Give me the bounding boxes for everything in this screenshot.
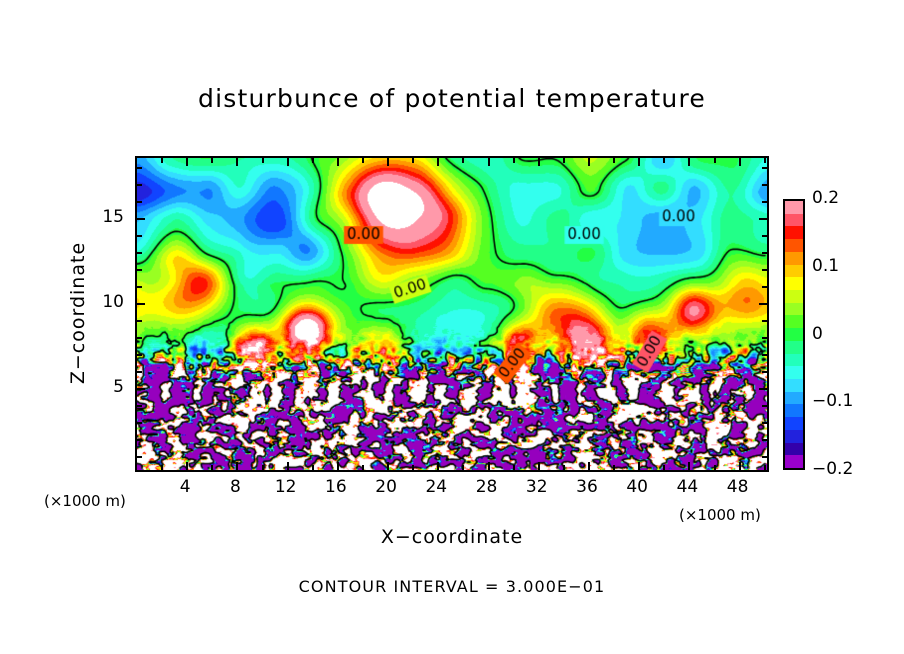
y-axis-minor-tick: [137, 286, 142, 288]
y-axis-tick: [759, 218, 767, 220]
y-axis-minor-tick: [137, 320, 142, 322]
y-axis-minor-tick: [762, 439, 767, 441]
y-axis-minor-tick: [137, 354, 142, 356]
y-axis-minor-tick: [137, 269, 142, 271]
y-axis-minor-tick: [137, 201, 142, 203]
y-axis-minor-tick: [137, 371, 142, 373]
x-axis-tick: [739, 462, 741, 470]
x-axis-minor-tick: [161, 465, 163, 470]
x-axis-minor-tick: [262, 158, 264, 163]
colorbar-swatch: [785, 354, 803, 367]
x-axis-tick: [337, 462, 339, 470]
x-tick-label: 40: [617, 477, 657, 497]
x-axis-minor-tick: [714, 465, 716, 470]
x-axis-minor-tick: [513, 158, 515, 163]
x-axis-tick: [688, 462, 690, 470]
colorbar-swatches: [785, 201, 803, 468]
y-axis-minor-tick: [762, 371, 767, 373]
y-axis-tick: [137, 388, 145, 390]
y-axis-tick: [759, 388, 767, 390]
colorbar-swatch: [785, 443, 803, 456]
y-axis-minor-tick: [762, 337, 767, 339]
colorbar-swatch: [785, 226, 803, 239]
x-axis-tick: [437, 158, 439, 166]
x-axis-tick: [337, 158, 339, 166]
x-axis-minor-tick: [362, 158, 364, 163]
x-tick-label: 12: [266, 477, 306, 497]
y-axis-minor-tick: [137, 184, 142, 186]
y-axis-minor-tick: [762, 354, 767, 356]
x-axis-minor-tick: [312, 465, 314, 470]
contour-plot-frame: [135, 156, 769, 472]
colorbar: [783, 199, 805, 470]
x-axis-minor-tick: [764, 158, 766, 163]
y-axis-minor-tick: [762, 201, 767, 203]
colorbar-swatch: [785, 404, 803, 417]
colorbar-swatch: [785, 290, 803, 303]
y-tick-label: 10: [90, 292, 124, 312]
x-tick-label: 4: [165, 477, 205, 497]
x-tick-label: 32: [517, 477, 557, 497]
colorbar-swatch: [785, 315, 803, 328]
x-axis-tick: [638, 158, 640, 166]
x-axis-tick: [538, 462, 540, 470]
y-axis-minor-tick: [137, 235, 142, 237]
x-axis-tick: [236, 158, 238, 166]
colorbar-tick-label: 0.2: [812, 188, 839, 208]
x-tick-label: 20: [366, 477, 406, 497]
x-axis-minor-tick: [412, 465, 414, 470]
y-axis-minor-tick: [762, 269, 767, 271]
colorbar-swatch: [785, 214, 803, 227]
x-tick-label: 16: [316, 477, 356, 497]
y-axis-tick: [137, 218, 145, 220]
y-axis-minor-tick: [137, 439, 142, 441]
contour-interval-caption: CONTOUR INTERVAL = 3.000E−01: [0, 577, 904, 596]
x-axis-minor-tick: [211, 158, 213, 163]
x-axis-tick: [186, 462, 188, 470]
x-axis-minor-tick: [161, 158, 163, 163]
x-axis-minor-tick: [462, 158, 464, 163]
colorbar-swatch: [785, 265, 803, 278]
colorbar-swatch: [785, 455, 803, 468]
x-axis-minor-tick: [714, 158, 716, 163]
colorbar-swatch: [785, 430, 803, 443]
x-axis-tick: [688, 158, 690, 166]
colorbar-swatch: [785, 252, 803, 265]
y-axis-minor-tick: [137, 456, 142, 458]
page-title: disturbunce of potential temperature: [0, 84, 904, 113]
y-axis-minor-tick: [137, 337, 142, 339]
y-axis-minor-tick: [762, 286, 767, 288]
y-axis-minor-tick: [762, 405, 767, 407]
y-axis-minor-tick: [762, 184, 767, 186]
y-axis-minor-tick: [137, 405, 142, 407]
x-axis-tick: [588, 462, 590, 470]
colorbar-swatch: [785, 341, 803, 354]
colorbar-swatch: [785, 366, 803, 379]
y-axis-minor-tick: [762, 167, 767, 169]
x-axis-tick: [186, 158, 188, 166]
colorbar-swatch: [785, 328, 803, 341]
colorbar-swatch: [785, 201, 803, 214]
x-axis-minor-tick: [412, 158, 414, 163]
x-axis-tick: [287, 158, 289, 166]
x-tick-label: 48: [718, 477, 758, 497]
y-axis-minor-tick: [762, 456, 767, 458]
x-tick-label: 24: [416, 477, 456, 497]
y-axis-minor-tick: [137, 422, 142, 424]
colorbar-tick-label: −0.1: [812, 391, 853, 411]
colorbar-swatch: [785, 277, 803, 290]
x-tick-label: 28: [467, 477, 507, 497]
x-axis-minor-tick: [262, 465, 264, 470]
y-tick-label: 5: [90, 377, 124, 397]
x-axis-minor-tick: [663, 158, 665, 163]
x-tick-label: 8: [215, 477, 255, 497]
x-axis-tick: [588, 158, 590, 166]
x-axis-tick: [638, 462, 640, 470]
x-axis-minor-tick: [462, 465, 464, 470]
x-axis-minor-tick: [513, 465, 515, 470]
x-axis-minor-tick: [764, 465, 766, 470]
x-axis-unit-label: (×1000 m): [679, 506, 761, 524]
x-axis-minor-tick: [663, 465, 665, 470]
x-axis-tick: [387, 158, 389, 166]
z-axis-unit-label: (×1000 m): [44, 492, 126, 510]
y-axis-minor-tick: [137, 252, 142, 254]
colorbar-tick-label: 0: [812, 324, 823, 344]
colorbar-swatch: [785, 303, 803, 316]
colorbar-swatch: [785, 417, 803, 430]
x-axis-tick: [739, 158, 741, 166]
y-axis-title: Z−coordinate: [67, 213, 89, 413]
x-axis-tick: [538, 158, 540, 166]
colorbar-swatch: [785, 239, 803, 252]
x-axis-minor-tick: [362, 465, 364, 470]
y-axis-minor-tick: [762, 235, 767, 237]
y-axis-minor-tick: [762, 422, 767, 424]
y-axis-minor-tick: [137, 167, 142, 169]
y-axis-tick: [759, 303, 767, 305]
contour-plot-canvas: [137, 158, 767, 470]
x-tick-label: 36: [567, 477, 607, 497]
x-axis-tick: [437, 462, 439, 470]
x-axis-tick: [387, 462, 389, 470]
y-axis-tick: [137, 303, 145, 305]
x-axis-tick: [287, 462, 289, 470]
y-axis-minor-tick: [762, 252, 767, 254]
colorbar-swatch: [785, 392, 803, 405]
colorbar-swatch: [785, 379, 803, 392]
x-axis-minor-tick: [613, 465, 615, 470]
y-axis-minor-tick: [762, 320, 767, 322]
x-axis-minor-tick: [312, 158, 314, 163]
x-axis-tick: [236, 462, 238, 470]
colorbar-tick-label: 0.1: [812, 256, 839, 276]
x-axis-minor-tick: [211, 465, 213, 470]
y-tick-label: 15: [90, 207, 124, 227]
x-axis-title: X−coordinate: [135, 526, 769, 548]
x-tick-label: 44: [667, 477, 707, 497]
x-axis-minor-tick: [563, 465, 565, 470]
x-axis-minor-tick: [613, 158, 615, 163]
x-axis-tick: [488, 462, 490, 470]
colorbar-tick-label: −0.2: [812, 459, 853, 479]
x-axis-minor-tick: [563, 158, 565, 163]
x-axis-tick: [488, 158, 490, 166]
